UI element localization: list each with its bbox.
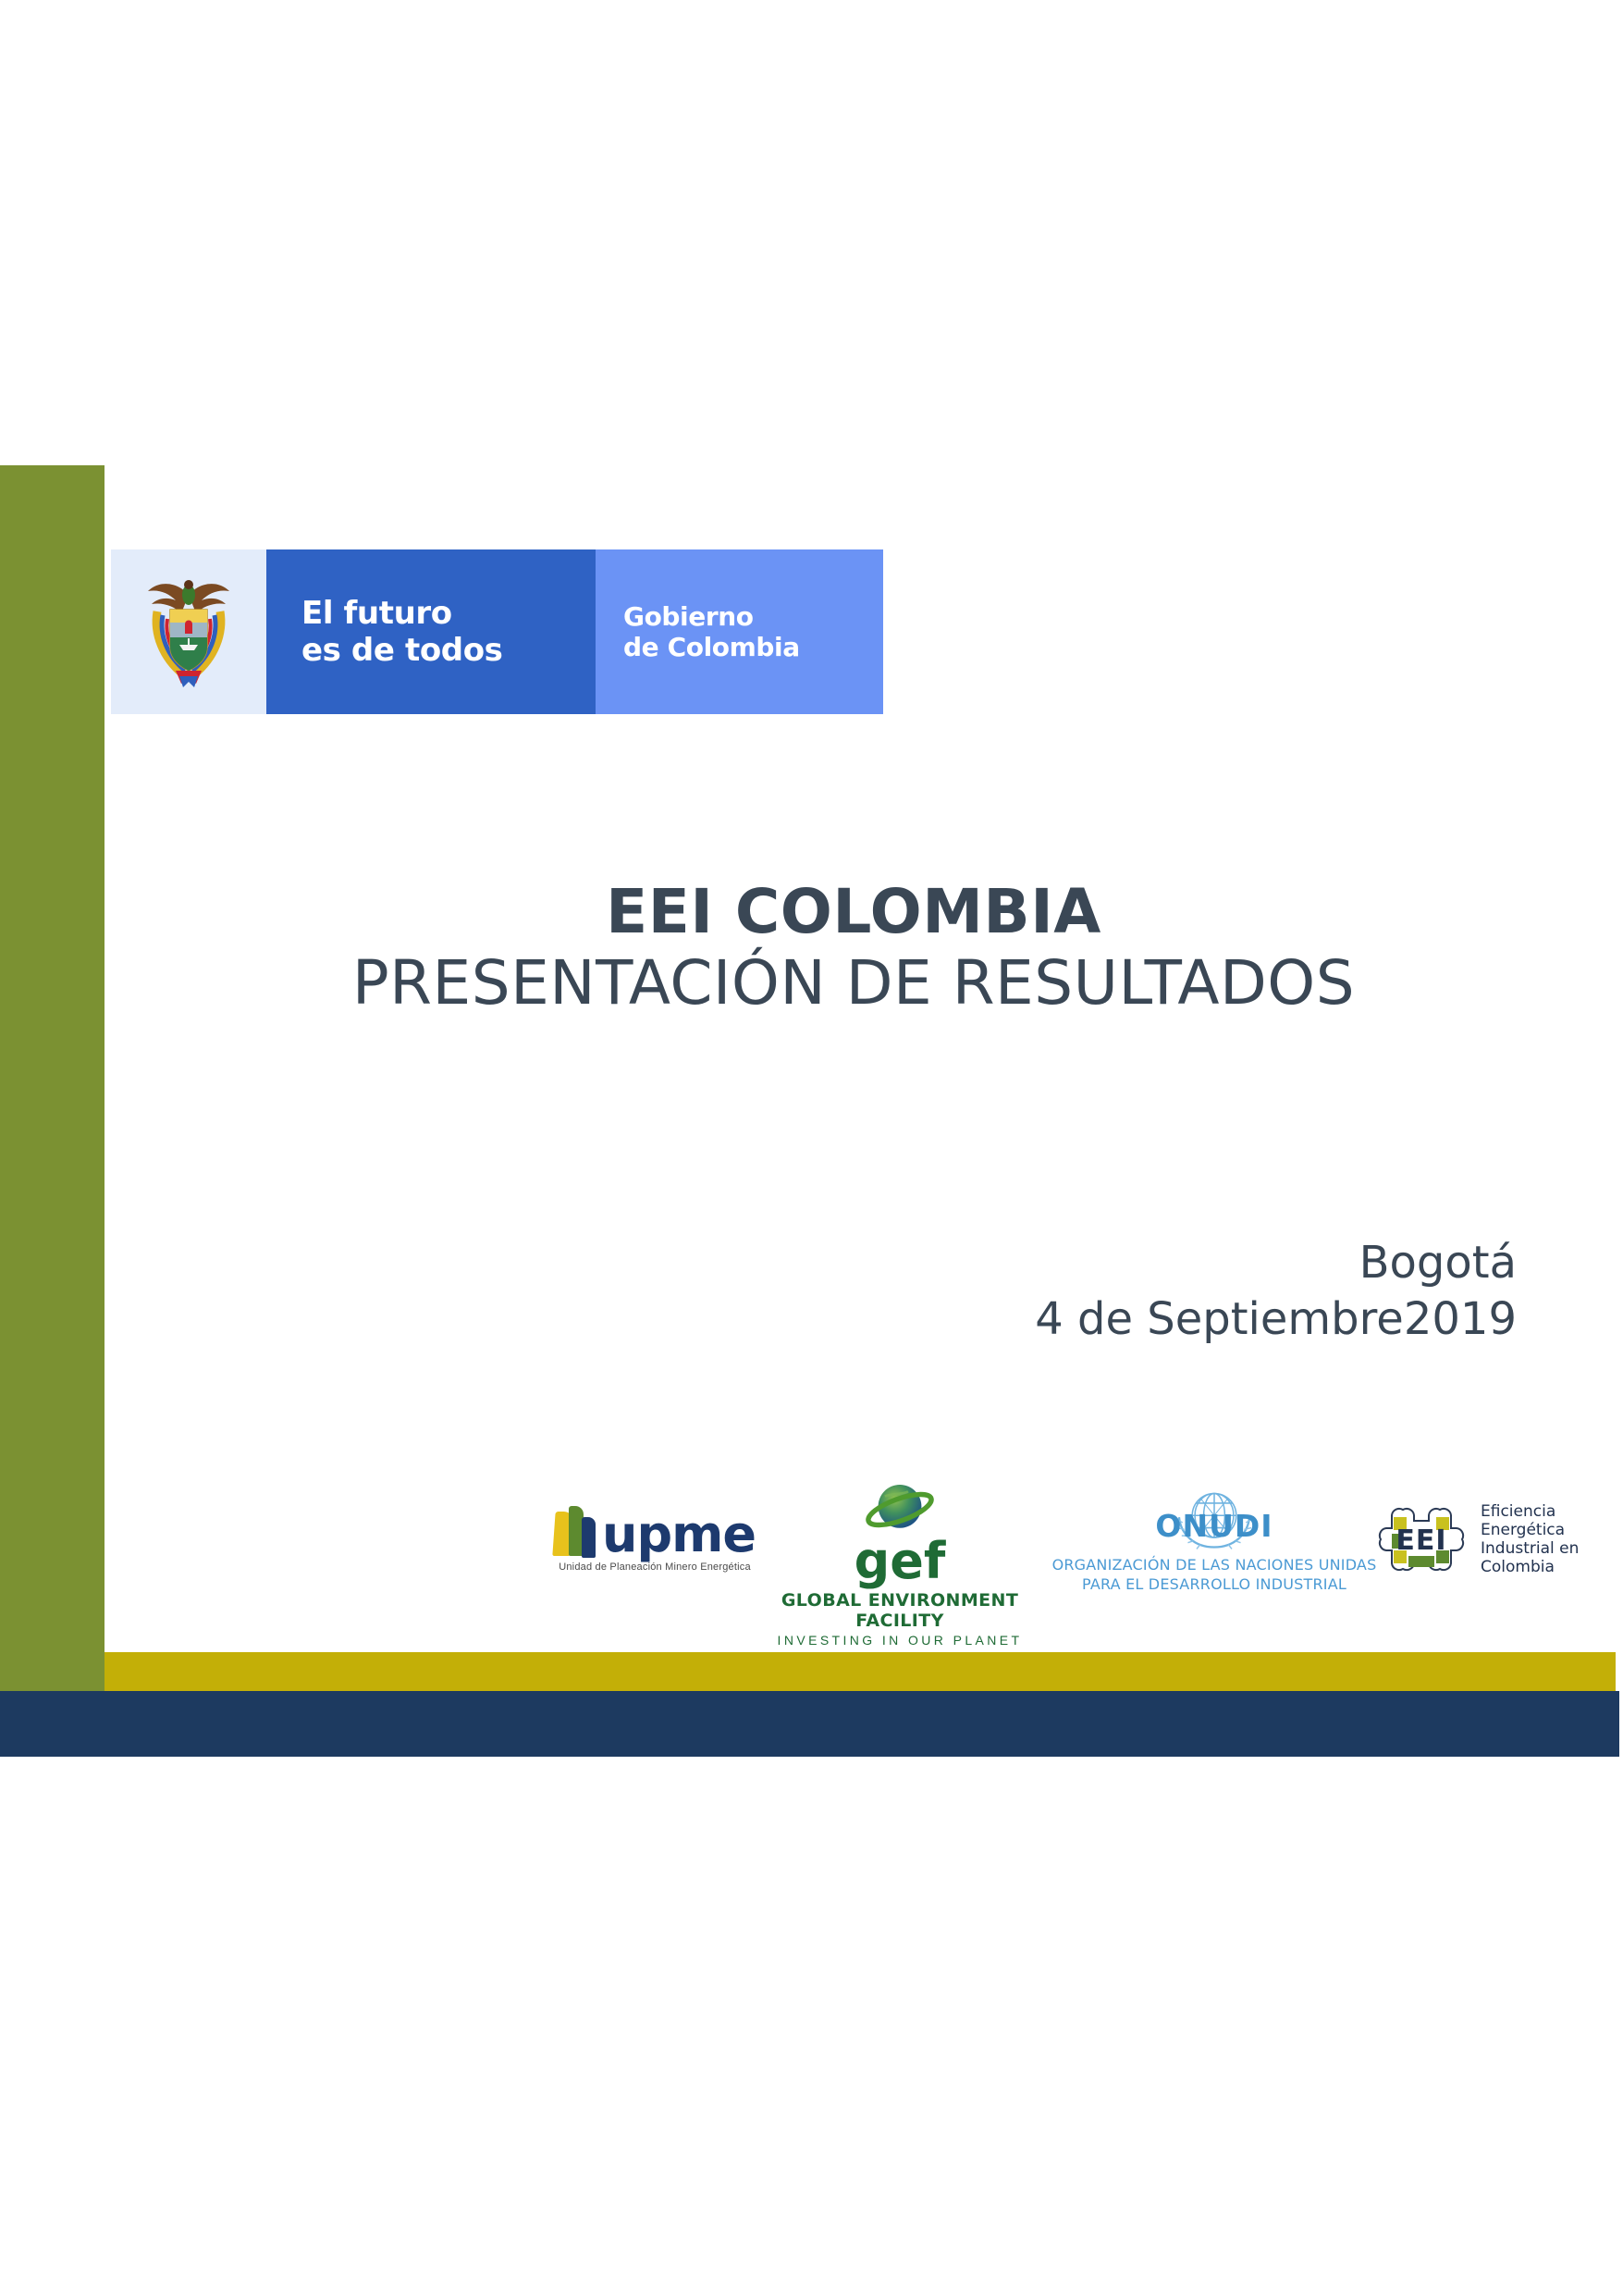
- gov-slogan-panel: El futuroes de todos: [266, 549, 596, 714]
- eei-caption: Eficiencia Energética Industrial en Colo…: [1481, 1502, 1623, 1576]
- page-title: EEI COLOMBIA: [105, 877, 1603, 948]
- page-subtitle: PRESENTACIÓN DE RESULTADOS: [105, 948, 1603, 1019]
- partner-logo-strip: upme Unidad de Planeación Minero Energét…: [105, 1476, 1616, 1652]
- colombia-coat-of-arms-icon: [139, 567, 239, 697]
- bottom-olive-accent-bar: [105, 1652, 1616, 1691]
- gef-wordmark: gef: [752, 1539, 1048, 1585]
- event-info-block: Bogotá 4 de Septiembre2019: [0, 1235, 1517, 1349]
- gov-entity-panel: Gobiernode Colombia: [596, 549, 883, 714]
- eei-caption-line2: Industrial en Colombia: [1481, 1539, 1623, 1576]
- presentation-slide: El futuroes de todos Gobiernode Colombia…: [0, 0, 1623, 2296]
- gef-caption-line1: GLOBAL ENVIRONMENT FACILITY: [752, 1590, 1048, 1631]
- eei-caption-line1: Eficiencia Energética: [1481, 1502, 1623, 1539]
- upme-wordmark: upme: [602, 1512, 756, 1558]
- bottom-navy-accent-bar: [0, 1691, 1619, 1757]
- un-emblem-icon: ONUDI: [1048, 1484, 1381, 1556]
- eei-gear-icon: EEI: [1371, 1497, 1471, 1582]
- eei-wordmark: EEI: [1371, 1524, 1471, 1557]
- onudi-caption-line1: ORGANIZACIÓN DE LAS NACIONES UNIDAS: [1048, 1556, 1381, 1575]
- left-green-accent-bar: [0, 465, 105, 1691]
- onudi-wordmark: ONUDI: [1048, 1508, 1381, 1544]
- gov-entity-text: Gobiernode Colombia: [623, 601, 800, 662]
- crest-panel: [111, 549, 266, 714]
- onudi-logo: ONUDI ORGANIZACIÓN DE LAS NACIONES UNIDA…: [1048, 1484, 1381, 1595]
- event-date: 4 de Septiembre2019: [0, 1291, 1517, 1348]
- gef-logo: gef GLOBAL ENVIRONMENT FACILITY INVESTIN…: [752, 1476, 1048, 1648]
- event-city: Bogotá: [0, 1235, 1517, 1291]
- gobierno-de-colombia-logo: El futuroes de todos Gobiernode Colombia: [111, 549, 883, 714]
- slide-title-block: EEI COLOMBIA PRESENTACIÓN DE RESULTADOS: [105, 877, 1603, 1018]
- gov-slogan-text: El futuroes de todos: [301, 595, 503, 669]
- gef-caption-line2: INVESTING IN OUR PLANET: [752, 1633, 1048, 1648]
- onudi-caption-line2: PARA EL DESARROLLO INDUSTRIAL: [1048, 1575, 1381, 1595]
- eei-logo: EEI Eficiencia Energética Industrial en …: [1371, 1497, 1623, 1582]
